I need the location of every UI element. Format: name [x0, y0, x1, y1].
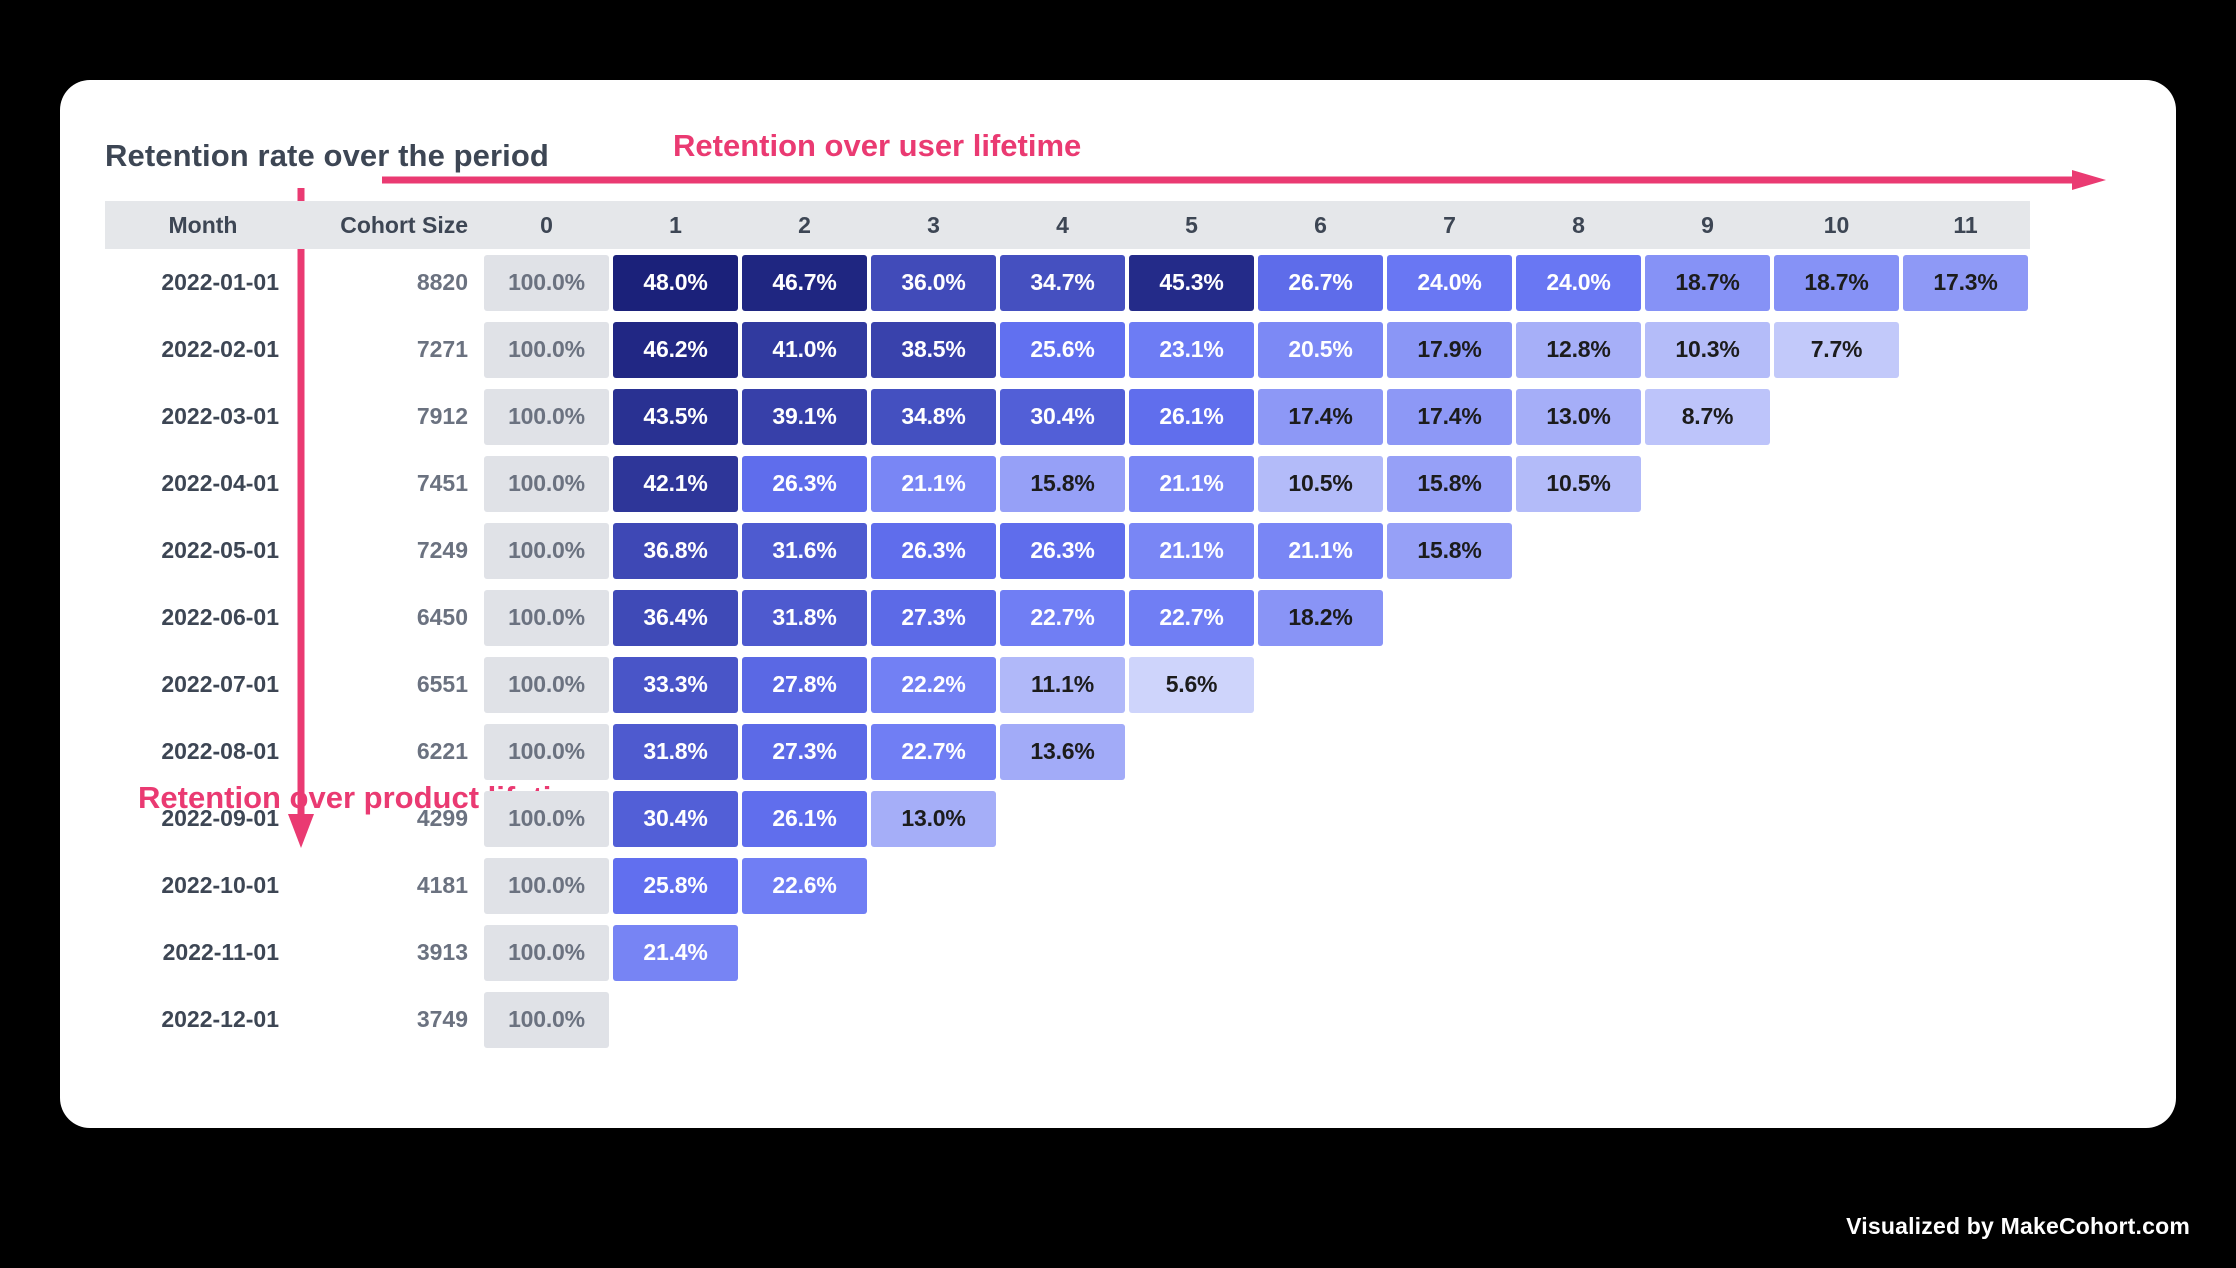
row-cohort-size: 3913 [301, 919, 482, 986]
heatmap-cell-container [1514, 852, 1643, 919]
heatmap-cell-container: 30.4% [611, 785, 740, 852]
heatmap-cell-container: 11.1% [998, 651, 1127, 718]
heatmap-cell-container [1772, 517, 1901, 584]
heatmap-cell-container [1772, 785, 1901, 852]
heatmap-cell [1258, 858, 1383, 914]
heatmap-cell-container: 30.4% [998, 383, 1127, 450]
heatmap-cell-container [1643, 986, 1772, 1053]
heatmap-cell [1774, 791, 1899, 847]
row-cohort-size: 3749 [301, 986, 482, 1053]
heatmap-cell-container: 10.5% [1256, 450, 1385, 517]
heatmap-cell [1774, 657, 1899, 713]
heatmap-cell[interactable]: 100.0% [484, 590, 609, 646]
heatmap-cell-container: 31.8% [740, 584, 869, 651]
heatmap-cell-container: 45.3% [1127, 249, 1256, 316]
heatmap-cell[interactable]: 26.3% [1000, 523, 1125, 579]
heatmap-cell-container: 18.7% [1772, 249, 1901, 316]
heatmap-cell[interactable]: 31.8% [742, 590, 867, 646]
heatmap-cell-container [1127, 785, 1256, 852]
table-body: 2022-01-018820100.0%48.0%46.7%36.0%34.7%… [105, 249, 2030, 1053]
heatmap-cell-container: 12.8% [1514, 316, 1643, 383]
heatmap-cell [742, 992, 867, 1048]
heatmap-cell [1000, 992, 1125, 1048]
heatmap-cell-container: 34.7% [998, 249, 1127, 316]
heatmap-cell-container: 15.8% [998, 450, 1127, 517]
heatmap-cell [1516, 523, 1641, 579]
heatmap-cell[interactable]: 100.0% [484, 858, 609, 914]
heatmap-cell-container: 100.0% [482, 651, 611, 718]
heatmap-cell[interactable]: 26.7% [1258, 255, 1383, 311]
heatmap-cell[interactable]: 22.7% [871, 724, 996, 780]
heatmap-cell-container: 10.3% [1643, 316, 1772, 383]
heatmap-cell [1129, 858, 1254, 914]
heatmap-cell-container: 15.8% [1385, 450, 1514, 517]
heatmap-cell[interactable]: 46.7% [742, 255, 867, 311]
heatmap-cell-container [1256, 986, 1385, 1053]
heatmap-cell-container: 18.2% [1256, 584, 1385, 651]
heatmap-cell[interactable]: 21.1% [1258, 523, 1383, 579]
heatmap-cell[interactable]: 27.3% [742, 724, 867, 780]
heatmap-cell [1000, 925, 1125, 981]
heatmap-cell-container: 41.0% [740, 316, 869, 383]
heatmap-cell-container [1514, 785, 1643, 852]
heatmap-cell[interactable]: 27.8% [742, 657, 867, 713]
heatmap-cell-container [611, 986, 740, 1053]
heatmap-cell[interactable]: 36.8% [613, 523, 738, 579]
horizontal-arrow-icon [382, 170, 2106, 190]
column-header-period-3: 3 [869, 201, 998, 249]
heatmap-cell-container [1127, 852, 1256, 919]
heatmap-cell[interactable]: 100.0% [484, 925, 609, 981]
heatmap-cell [1903, 590, 2028, 646]
heatmap-cell-container: 23.1% [1127, 316, 1256, 383]
heatmap-cell-container [1643, 584, 1772, 651]
column-header-period-2: 2 [740, 201, 869, 249]
heatmap-cell [1645, 590, 1770, 646]
heatmap-cell-container: 18.7% [1643, 249, 1772, 316]
period-title: Retention rate over the period [105, 138, 549, 174]
heatmap-cell [1129, 724, 1254, 780]
heatmap-cell-container: 20.5% [1256, 316, 1385, 383]
heatmap-cell [1258, 925, 1383, 981]
heatmap-cell-container [1901, 584, 2030, 651]
heatmap-cell [1903, 657, 2028, 713]
table-row: 2022-05-017249100.0%36.8%31.6%26.3%26.3%… [105, 517, 2030, 584]
heatmap-cell[interactable]: 22.6% [742, 858, 867, 914]
heatmap-cell [1129, 925, 1254, 981]
heatmap-cell[interactable]: 22.7% [1129, 590, 1254, 646]
heatmap-cell-container: 22.6% [740, 852, 869, 919]
heatmap-cell-container: 22.7% [869, 718, 998, 785]
heatmap-cell-container [1772, 919, 1901, 986]
heatmap-cell [1903, 992, 2028, 1048]
heatmap-cell [1903, 523, 2028, 579]
row-label-month: 2022-04-01 [105, 450, 301, 517]
heatmap-cell[interactable]: 13.6% [1000, 724, 1125, 780]
heatmap-cell-container [1643, 718, 1772, 785]
heatmap-cell-container: 22.7% [1127, 584, 1256, 651]
heatmap-cell-container [1127, 718, 1256, 785]
heatmap-cell [1645, 456, 1770, 512]
heatmap-cell [1258, 657, 1383, 713]
heatmap-cell[interactable]: 27.3% [871, 590, 996, 646]
heatmap-cell[interactable]: 46.2% [613, 322, 738, 378]
heatmap-cell[interactable]: 12.8% [1516, 322, 1641, 378]
heatmap-cell[interactable]: 42.1% [613, 456, 738, 512]
heatmap-cell[interactable]: 100.0% [484, 992, 609, 1048]
heatmap-cell-container: 22.7% [998, 584, 1127, 651]
heatmap-cell [1774, 590, 1899, 646]
table-row: 2022-06-016450100.0%36.4%31.8%27.3%22.7%… [105, 584, 2030, 651]
heatmap-cell-container: 17.4% [1385, 383, 1514, 450]
heatmap-cell[interactable]: 10.3% [1645, 322, 1770, 378]
heatmap-cell[interactable]: 24.0% [1387, 255, 1512, 311]
heatmap-cell[interactable]: 30.4% [613, 791, 738, 847]
heatmap-cell-container [1514, 986, 1643, 1053]
heatmap-cell-container [1643, 450, 1772, 517]
row-label-month: 2022-03-01 [105, 383, 301, 450]
heatmap-cell-container: 38.5% [869, 316, 998, 383]
heatmap-cell-container: 27.3% [869, 584, 998, 651]
heatmap-cell[interactable]: 7.7% [1774, 322, 1899, 378]
heatmap-cell-container [1385, 852, 1514, 919]
row-label-month: 2022-02-01 [105, 316, 301, 383]
heatmap-cell [1903, 322, 2028, 378]
heatmap-cell [742, 925, 867, 981]
row-cohort-size: 4181 [301, 852, 482, 919]
heatmap-cell[interactable]: 26.1% [1129, 389, 1254, 445]
table-row: 2022-09-014299100.0%30.4%26.1%13.0% [105, 785, 2030, 852]
heatmap-cell-container: 13.6% [998, 718, 1127, 785]
heatmap-cell-container [1385, 785, 1514, 852]
heatmap-cell [613, 992, 738, 1048]
heatmap-cell-container: 100.0% [482, 986, 611, 1053]
heatmap-cell [1645, 992, 1770, 1048]
heatmap-cell-container: 48.0% [611, 249, 740, 316]
heatmap-cell[interactable]: 22.2% [871, 657, 996, 713]
credit-label: Visualized by MakeCohort.com [1846, 1213, 2190, 1240]
heatmap-cell-container: 24.0% [1385, 249, 1514, 316]
heatmap-cell[interactable]: 11.1% [1000, 657, 1125, 713]
heatmap-cell [1387, 657, 1512, 713]
heatmap-cell[interactable]: 100.0% [484, 255, 609, 311]
heatmap-cell[interactable]: 20.5% [1258, 322, 1383, 378]
row-label-month: 2022-05-01 [105, 517, 301, 584]
heatmap-cell [1000, 858, 1125, 914]
heatmap-cell [1516, 858, 1641, 914]
table-row: 2022-07-016551100.0%33.3%27.8%22.2%11.1%… [105, 651, 2030, 718]
heatmap-cell-container [1514, 718, 1643, 785]
heatmap-cell[interactable]: 36.0% [871, 255, 996, 311]
heatmap-cell-container: 25.8% [611, 852, 740, 919]
heatmap-cell-container [1514, 651, 1643, 718]
column-header-period-11: 11 [1901, 201, 2030, 249]
heatmap-cell-container: 21.1% [1256, 517, 1385, 584]
heatmap-cell[interactable]: 13.0% [1516, 389, 1641, 445]
heatmap-cell-container [1772, 718, 1901, 785]
heatmap-cell-container: 5.6% [1127, 651, 1256, 718]
heatmap-cell[interactable]: 21.1% [871, 456, 996, 512]
heatmap-cell-container [1385, 584, 1514, 651]
heatmap-cell-container [1256, 919, 1385, 986]
heatmap-cell-container: 22.2% [869, 651, 998, 718]
heatmap-cell-container: 26.3% [998, 517, 1127, 584]
heatmap-cell [1387, 791, 1512, 847]
heatmap-cell-container: 26.3% [740, 450, 869, 517]
heatmap-cell [1903, 858, 2028, 914]
heatmap-cell-container: 100.0% [482, 383, 611, 450]
heatmap-cell-container [1901, 517, 2030, 584]
heatmap-cell[interactable]: 10.5% [1516, 456, 1641, 512]
heatmap-cell-container [998, 986, 1127, 1053]
heatmap-cell [1903, 724, 2028, 780]
heatmap-cell-container [1385, 718, 1514, 785]
heatmap-cell-container [1772, 651, 1901, 718]
heatmap-cell-container: 21.1% [1127, 450, 1256, 517]
table-row: 2022-08-016221100.0%31.8%27.3%22.7%13.6% [105, 718, 2030, 785]
heatmap-cell [1516, 925, 1641, 981]
heatmap-cell-container: 24.0% [1514, 249, 1643, 316]
heatmap-cell-container [1901, 383, 2030, 450]
heatmap-cell [1129, 791, 1254, 847]
heatmap-cell[interactable]: 34.8% [871, 389, 996, 445]
heatmap-cell[interactable]: 15.8% [1387, 523, 1512, 579]
table-row: 2022-10-014181100.0%25.8%22.6% [105, 852, 2030, 919]
heatmap-cell-container: 100.0% [482, 517, 611, 584]
row-cohort-size: 7451 [301, 450, 482, 517]
row-cohort-size: 6551 [301, 651, 482, 718]
table-row: 2022-04-017451100.0%42.1%26.3%21.1%15.8%… [105, 450, 2030, 517]
heatmap-cell-container: 100.0% [482, 316, 611, 383]
heatmap-cell [1774, 456, 1899, 512]
heatmap-cell-container [1901, 919, 2030, 986]
heatmap-cell-container [1514, 919, 1643, 986]
heatmap-cell[interactable]: 8.7% [1645, 389, 1770, 445]
heatmap-cell[interactable]: 10.5% [1258, 456, 1383, 512]
heatmap-cell-container [1256, 785, 1385, 852]
heatmap-cell[interactable]: 100.0% [484, 389, 609, 445]
heatmap-cell-container: 100.0% [482, 450, 611, 517]
heatmap-cell[interactable]: 100.0% [484, 523, 609, 579]
heatmap-cell [1903, 389, 2028, 445]
heatmap-cell[interactable]: 31.8% [613, 724, 738, 780]
heatmap-cell-container [998, 785, 1127, 852]
heatmap-cell-container [1643, 517, 1772, 584]
row-label-month: 2022-01-01 [105, 249, 301, 316]
heatmap-cell-container [1256, 651, 1385, 718]
heatmap-cell [1645, 858, 1770, 914]
heatmap-cell-container: 7.7% [1772, 316, 1901, 383]
table-row: 2022-02-017271100.0%46.2%41.0%38.5%25.6%… [105, 316, 2030, 383]
column-header-period-4: 4 [998, 201, 1127, 249]
heatmap-cell-container: 100.0% [482, 249, 611, 316]
heatmap-cell[interactable]: 15.8% [1387, 456, 1512, 512]
heatmap-cell [1387, 992, 1512, 1048]
heatmap-cell[interactable]: 100.0% [484, 724, 609, 780]
heatmap-cell-container: 34.8% [869, 383, 998, 450]
user-lifetime-label: Retention over user lifetime [673, 128, 1081, 164]
column-header-period-1: 1 [611, 201, 740, 249]
row-cohort-size: 7912 [301, 383, 482, 450]
heatmap-cell[interactable]: 39.1% [742, 389, 867, 445]
heatmap-cell[interactable]: 100.0% [484, 791, 609, 847]
heatmap-cell[interactable]: 45.3% [1129, 255, 1254, 311]
heatmap-cell[interactable]: 26.3% [742, 456, 867, 512]
heatmap-cell-container [998, 852, 1127, 919]
heatmap-cell-container: 31.6% [740, 517, 869, 584]
heatmap-cell-container: 17.4% [1256, 383, 1385, 450]
heatmap-cell[interactable]: 41.0% [742, 322, 867, 378]
row-cohort-size: 7249 [301, 517, 482, 584]
heatmap-cell-container: 100.0% [482, 919, 611, 986]
heatmap-cell[interactable]: 26.3% [871, 523, 996, 579]
heatmap-cell-container [1772, 450, 1901, 517]
heatmap-cell[interactable]: 23.1% [1129, 322, 1254, 378]
heatmap-cell [1903, 925, 2028, 981]
heatmap-cell-container [1643, 785, 1772, 852]
row-label-month: 2022-07-01 [105, 651, 301, 718]
heatmap-cell-container: 100.0% [482, 852, 611, 919]
heatmap-cell-container [1256, 852, 1385, 919]
heatmap-cell-container: 10.5% [1514, 450, 1643, 517]
heatmap-cell-container: 21.4% [611, 919, 740, 986]
heatmap-cell [1645, 791, 1770, 847]
heatmap-cell [1774, 523, 1899, 579]
row-label-month: 2022-12-01 [105, 986, 301, 1053]
heatmap-cell-container: 46.7% [740, 249, 869, 316]
heatmap-cell[interactable]: 24.0% [1516, 255, 1641, 311]
heatmap-cell[interactable]: 15.8% [1000, 456, 1125, 512]
heatmap-cell-container [1643, 919, 1772, 986]
heatmap-cell-container: 26.1% [1127, 383, 1256, 450]
heatmap-cell-container: 46.2% [611, 316, 740, 383]
heatmap-cell-container: 100.0% [482, 785, 611, 852]
heatmap-cell-container [1643, 651, 1772, 718]
heatmap-cell[interactable]: 33.3% [613, 657, 738, 713]
heatmap-cell[interactable]: 25.8% [613, 858, 738, 914]
heatmap-cell[interactable]: 34.7% [1000, 255, 1125, 311]
heatmap-cell-container: 13.0% [1514, 383, 1643, 450]
heatmap-cell[interactable]: 31.6% [742, 523, 867, 579]
heatmap-cell[interactable]: 100.0% [484, 456, 609, 512]
heatmap-cell-container: 17.9% [1385, 316, 1514, 383]
heatmap-cell [1903, 456, 2028, 512]
heatmap-cell[interactable]: 100.0% [484, 322, 609, 378]
heatmap-cell[interactable]: 17.3% [1903, 255, 2028, 311]
heatmap-cell[interactable]: 17.4% [1258, 389, 1383, 445]
row-label-month: 2022-08-01 [105, 718, 301, 785]
table-row: 2022-11-013913100.0%21.4% [105, 919, 2030, 986]
heatmap-cell-container: 100.0% [482, 584, 611, 651]
heatmap-cell-container [1772, 383, 1901, 450]
heatmap-cell[interactable]: 25.6% [1000, 322, 1125, 378]
column-header-period-9: 9 [1643, 201, 1772, 249]
heatmap-cell [1774, 724, 1899, 780]
table-row: 2022-03-017912100.0%43.5%39.1%34.8%30.4%… [105, 383, 2030, 450]
heatmap-cell-container [1385, 651, 1514, 718]
heatmap-cell [1000, 791, 1125, 847]
heatmap-cell-container: 26.7% [1256, 249, 1385, 316]
heatmap-cell-container [1514, 517, 1643, 584]
heatmap-cell[interactable]: 30.4% [1000, 389, 1125, 445]
heatmap-cell[interactable]: 18.7% [1645, 255, 1770, 311]
heatmap-cell-container: 100.0% [482, 718, 611, 785]
heatmap-cell[interactable]: 21.1% [1129, 523, 1254, 579]
heatmap-cell [1774, 389, 1899, 445]
heatmap-cell-container [1772, 852, 1901, 919]
heatmap-cell-container: 36.8% [611, 517, 740, 584]
heatmap-cell [1129, 992, 1254, 1048]
heatmap-cell-container: 17.3% [1901, 249, 2030, 316]
row-label-month: 2022-06-01 [105, 584, 301, 651]
heatmap-cell[interactable]: 18.2% [1258, 590, 1383, 646]
row-cohort-size: 6221 [301, 718, 482, 785]
heatmap-cell[interactable]: 21.4% [613, 925, 738, 981]
heatmap-cell [1774, 925, 1899, 981]
heatmap-cell-container [1901, 651, 2030, 718]
heatmap-cell[interactable]: 17.4% [1387, 389, 1512, 445]
heatmap-cell-container [1514, 584, 1643, 651]
heatmap-cell-container [740, 919, 869, 986]
heatmap-cell-container: 31.8% [611, 718, 740, 785]
heatmap-cell-container: 8.7% [1643, 383, 1772, 450]
heatmap-cell-container: 21.1% [869, 450, 998, 517]
column-header-period-8: 8 [1514, 201, 1643, 249]
heatmap-cell [1516, 657, 1641, 713]
heatmap-cell[interactable]: 21.1% [1129, 456, 1254, 512]
heatmap-cell[interactable]: 36.4% [613, 590, 738, 646]
heatmap-cell [1258, 992, 1383, 1048]
heatmap-cell [1258, 724, 1383, 780]
row-label-month: 2022-10-01 [105, 852, 301, 919]
heatmap-cell-container [1901, 450, 2030, 517]
heatmap-cell[interactable]: 13.0% [871, 791, 996, 847]
heatmap-cell-container: 39.1% [740, 383, 869, 450]
heatmap-cell-container: 27.8% [740, 651, 869, 718]
heatmap-cell[interactable]: 26.1% [742, 791, 867, 847]
heatmap-cell-container: 15.8% [1385, 517, 1514, 584]
row-cohort-size: 6450 [301, 584, 482, 651]
heatmap-cell[interactable]: 22.7% [1000, 590, 1125, 646]
row-label-month: 2022-09-01 [105, 785, 301, 852]
heatmap-cell-container [1772, 584, 1901, 651]
heatmap-cell [871, 925, 996, 981]
heatmap-cell [1903, 791, 2028, 847]
heatmap-cell-container [869, 919, 998, 986]
heatmap-cell [1645, 657, 1770, 713]
heatmap-cell [1516, 590, 1641, 646]
heatmap-cell[interactable]: 43.5% [613, 389, 738, 445]
row-cohort-size: 7271 [301, 316, 482, 383]
heatmap-cell [871, 992, 996, 1048]
cohort-card: Retention rate over the period Retention… [60, 80, 2176, 1128]
heatmap-cell [1516, 791, 1641, 847]
row-cohort-size: 8820 [301, 249, 482, 316]
heatmap-cell [1645, 925, 1770, 981]
column-header-period-6: 6 [1256, 201, 1385, 249]
heatmap-cell[interactable]: 100.0% [484, 657, 609, 713]
heatmap-cell-container [1901, 852, 2030, 919]
heatmap-cell-container: 33.3% [611, 651, 740, 718]
heatmap-cell [1774, 992, 1899, 1048]
heatmap-cell[interactable]: 17.9% [1387, 322, 1512, 378]
heatmap-cell [1516, 992, 1641, 1048]
heatmap-cell[interactable]: 38.5% [871, 322, 996, 378]
heatmap-cell[interactable]: 18.7% [1774, 255, 1899, 311]
heatmap-cell [1258, 791, 1383, 847]
heatmap-cell[interactable]: 48.0% [613, 255, 738, 311]
heatmap-cell[interactable]: 5.6% [1129, 657, 1254, 713]
